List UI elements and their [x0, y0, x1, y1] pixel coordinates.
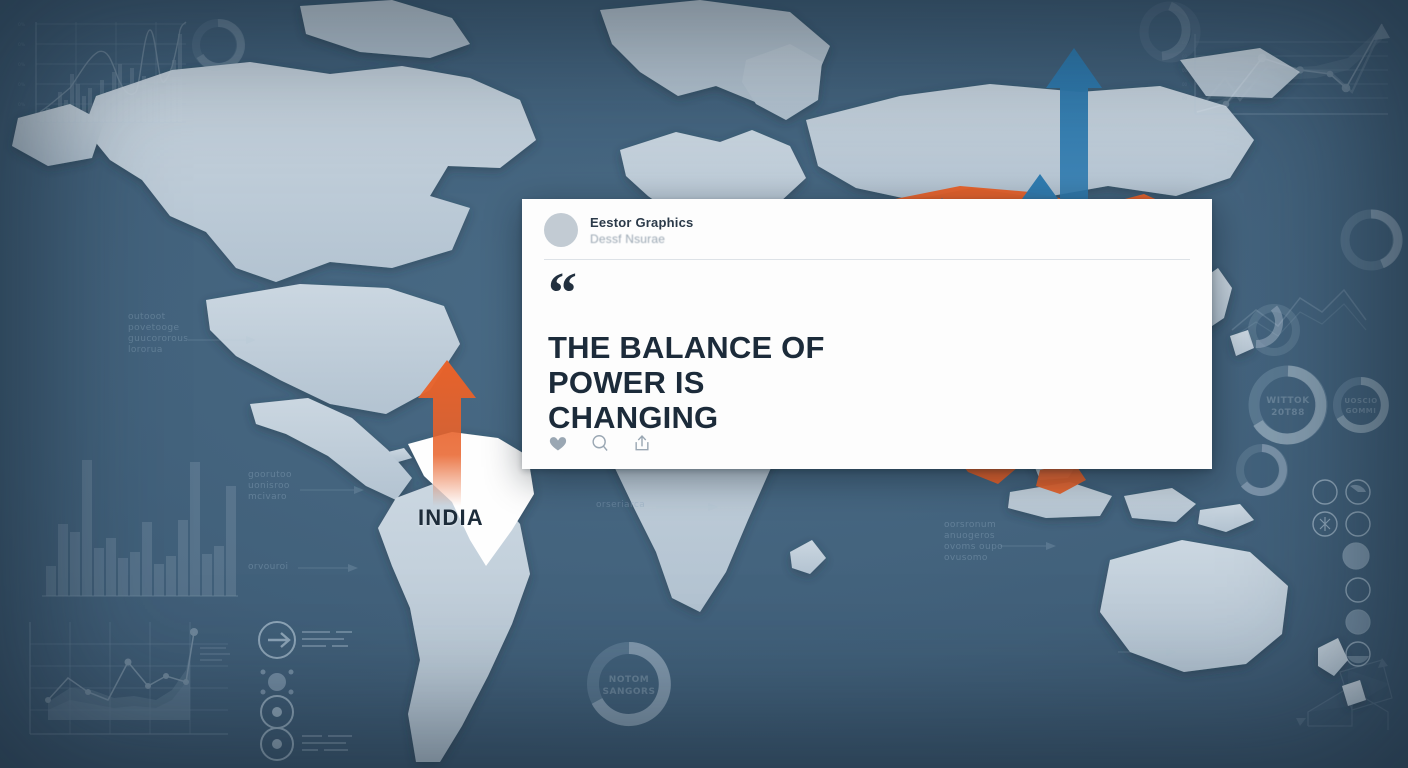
infographic-canvas: INDIA CHINA [0, 0, 1408, 768]
svg-text:0: 0 [20, 120, 23, 126]
annotation-africa: orseriarca [596, 500, 645, 511]
ring-left-lower [1240, 448, 1284, 492]
card-actions [548, 433, 652, 453]
ring-top-right [1144, 6, 1196, 58]
svg-text:00: 00 [1182, 82, 1188, 87]
ring-right-mid [1345, 214, 1398, 266]
legend-dot-7 [1313, 480, 1337, 504]
legend-dot-2 [1346, 512, 1370, 536]
donut-metric-side: UOSCIO GOMMI [1337, 381, 1385, 429]
annotation-south-america: Goorutoo uonisroo mcivaro [248, 470, 292, 503]
donut-label-side-line2: GOMMI [1346, 407, 1377, 415]
annotation-south-america-2: orvouroi [248, 562, 288, 573]
svg-text:00: 00 [1182, 68, 1188, 73]
legend-dot-column [1313, 480, 1370, 666]
quote-mark-icon: “ [548, 278, 1190, 312]
chart-bottom-left-area [30, 622, 230, 734]
chart-top-right-line: 0000 0000 00 [1182, 24, 1390, 114]
avatar[interactable] [544, 213, 578, 247]
quote-card[interactable]: Eestor Graphics Dessf Nsurae “ The balan… [522, 199, 1212, 469]
donut-label-bottom-line2: SANGORS [603, 687, 656, 697]
chart-left-bar [42, 460, 238, 596]
annotation-north-america: outooot povetooge guucororous lororua [128, 312, 188, 356]
account-name: Eestor Graphics [590, 215, 693, 230]
legend-dot-4 [1346, 578, 1370, 602]
share-icon [632, 433, 652, 453]
comment-button[interactable] [590, 433, 610, 453]
svg-text:00: 00 [1182, 96, 1188, 101]
card-header: Eestor Graphics Dessf Nsurae [522, 199, 1212, 257]
asterisk-icon [1320, 517, 1330, 531]
svg-text:0%: 0% [18, 62, 26, 68]
svg-text:0%: 0% [18, 22, 26, 28]
account-handle: Dessf Nsurae [590, 232, 693, 246]
quote-text: The balance of power is changing [548, 330, 878, 435]
annotation-southeast-asia: oorsronum anuogeros ovoms oupo ovusomo [944, 520, 1003, 564]
ring-top-left [196, 23, 241, 67]
heart-icon [548, 433, 568, 453]
arrow-right-circle-icon [259, 622, 295, 658]
target-circle-icon-2 [261, 728, 293, 760]
network-node-icon [261, 670, 294, 695]
comment-circle-icon [590, 433, 610, 453]
legend-dot-3 [1343, 543, 1369, 569]
svg-text:0%: 0% [18, 82, 26, 88]
donut-label-main-line1: WITTOK [1266, 396, 1310, 406]
ring-right-lower [1252, 308, 1296, 352]
target-circle-icon-1 [261, 696, 293, 728]
svg-text:0%: 0% [18, 42, 26, 48]
donut-label-bottom-line1: NOTOM [609, 675, 649, 685]
donut-metric-bottom: NOTOM SANGORS [593, 648, 665, 720]
svg-text:0%: 0% [18, 102, 26, 108]
legend-dot-5 [1346, 610, 1370, 634]
donut-label-main-line2: 20T88 [1271, 408, 1305, 418]
donut-label-side-line1: UOSCIO [1344, 397, 1377, 405]
like-button[interactable] [548, 433, 568, 453]
card-body: “ The balance of power is changing [522, 260, 1212, 435]
icon-list [259, 622, 352, 760]
donut-metric-main: WITTOK 20T88 [1254, 371, 1322, 439]
chart-top-left-combo: 0%0% 0%0% 0%0 [18, 22, 186, 126]
isometric-cube-graphic [1296, 658, 1392, 730]
share-button[interactable] [632, 433, 652, 453]
